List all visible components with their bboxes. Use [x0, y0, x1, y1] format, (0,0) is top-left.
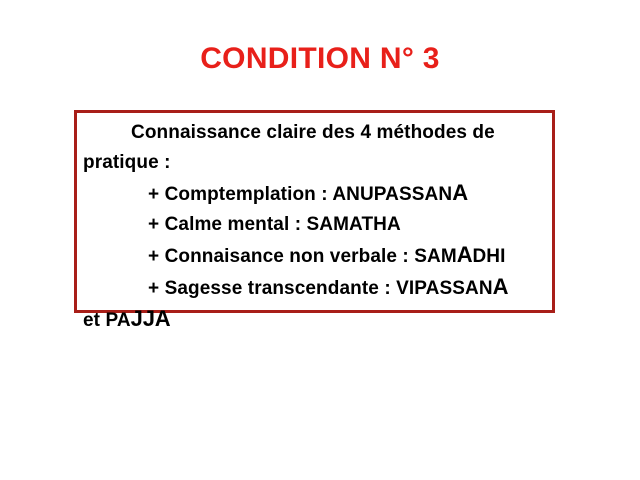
plain-text: + Calme mental : SAMATHA: [148, 214, 401, 235]
text-line-intro-line-1: Connaissance claire des 4 méthodes de: [83, 118, 548, 148]
page-title: CONDITION N° 3: [0, 42, 640, 76]
text-line-method-4: + Sagesse transcendante : VIPASSANA: [83, 272, 548, 304]
emphasised-text: A: [493, 274, 509, 299]
plain-text: DHI: [472, 246, 505, 267]
text-line-method-3: + Connaisance non verbale : SAMADHI: [83, 240, 548, 272]
content-box: Connaissance claire des 4 méthodes depra…: [74, 110, 555, 313]
text-line-intro-line-2: pratique :: [83, 148, 548, 178]
text-line-method-2: + Calme mental : SAMATHA: [83, 210, 548, 240]
text-line-closing-line: et PAJJA: [83, 304, 548, 336]
emphasised-text: JJA: [131, 306, 171, 331]
text-line-method-1: + Comptemplation : ANUPASSANA: [83, 178, 548, 210]
emphasised-text: A: [452, 180, 468, 205]
plain-text: + Connaisance non verbale : SAM: [148, 246, 457, 267]
plain-text: + Sagesse transcendante : VIPASSAN: [148, 278, 493, 299]
plain-text: et PA: [83, 310, 131, 331]
emphasised-text: A: [457, 242, 473, 267]
plain-text: + Comptemplation : ANUPASSAN: [148, 184, 452, 205]
slide-canvas: { "slide": { "title": "CONDITION N° 3", …: [0, 0, 640, 480]
plain-text: pratique :: [83, 152, 171, 173]
content-box-text: Connaissance claire des 4 méthodes depra…: [83, 118, 548, 336]
plain-text: Connaissance claire des 4 méthodes de: [131, 122, 495, 143]
